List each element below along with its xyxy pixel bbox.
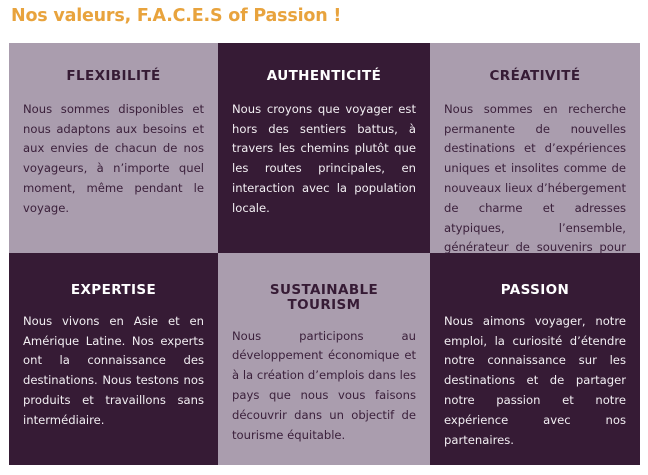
value-card-passion: PASSION Nous aimons voyager, notre emplo…	[430, 253, 640, 465]
value-card-body: Nous vivons en Asie et en Amérique Latin…	[23, 298, 204, 431]
value-card-sustainable-tourism: SUSTAINABLE TOURISM Nous participons au …	[218, 253, 430, 465]
values-page: Nos valeurs, F.A.C.E.S of Passion ! FLEX…	[0, 0, 648, 475]
value-card-flexibilite: FLEXIBILITÉ Nous sommes disponibles et n…	[9, 43, 218, 253]
value-card-title: AUTHENTICITÉ	[232, 43, 416, 84]
value-card-authenticite: AUTHENTICITÉ Nous croyons que voyager es…	[218, 43, 430, 253]
values-grid: FLEXIBILITÉ Nous sommes disponibles et n…	[9, 43, 640, 465]
page-title: Nos valeurs, F.A.C.E.S of Passion !	[11, 6, 341, 26]
value-card-body: Nous participons au développement économ…	[232, 313, 416, 446]
value-card-body: Nous sommes en recherche permanente de n…	[444, 84, 626, 253]
value-card-title: CRÉATIVITÉ	[444, 43, 626, 84]
value-card-body: Nous sommes disponibles et nous adaptons…	[23, 84, 204, 219]
value-card-title: SUSTAINABLE TOURISM	[232, 253, 416, 313]
value-card-expertise: EXPERTISE Nous vivons en Asie et en Amér…	[9, 253, 218, 465]
value-card-body: Nous aimons voyager, notre emploi, la cu…	[444, 298, 626, 451]
value-card-creativite: CRÉATIVITÉ Nous sommes en recherche perm…	[430, 43, 640, 253]
value-card-title: PASSION	[444, 253, 626, 298]
value-card-title: EXPERTISE	[23, 253, 204, 298]
value-card-body: Nous croyons que voyager est hors des se…	[232, 84, 416, 219]
value-card-title: FLEXIBILITÉ	[23, 43, 204, 84]
